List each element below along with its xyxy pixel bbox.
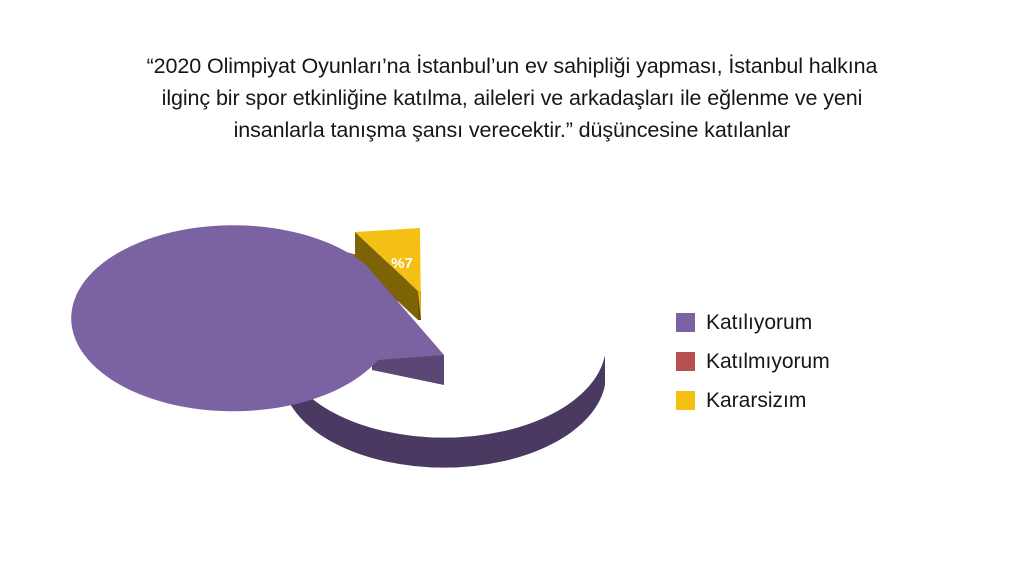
pie-slice-katiliyorum-label: %81 bbox=[508, 385, 538, 402]
pie-chart-plot-area: %12 %7 %81 bbox=[0, 170, 660, 500]
legend-swatch-kararsizim-icon bbox=[676, 391, 695, 410]
legend-item-katiliyorum[interactable]: Katılıyorum bbox=[676, 303, 926, 342]
chart-title-line-1: “2020 Olimpiyat Oyunları’na İstanbul’un … bbox=[96, 50, 928, 82]
legend-item-kararsizim[interactable]: Kararsizım bbox=[676, 381, 926, 420]
legend-swatch-katilmiyorum-icon bbox=[676, 352, 695, 371]
chart-title-line-2: ilginç bir spor etkinliğine katılma, ail… bbox=[96, 82, 928, 114]
chart-title-line-3: insanlarla tanışma şansı verecektir.” dü… bbox=[96, 114, 928, 146]
legend-swatch-katiliyorum-icon bbox=[676, 313, 695, 332]
pie-slice-katiliyorum[interactable]: %81 bbox=[71, 225, 605, 467]
pie-slice-kararsizim-label: %7 bbox=[391, 255, 413, 272]
legend-label-kararsizim: Kararsizım bbox=[706, 389, 806, 413]
chart-title: “2020 Olimpiyat Oyunları’na İstanbul’un … bbox=[96, 50, 928, 146]
legend-item-katilmiyorum[interactable]: Katılmıyorum bbox=[676, 342, 926, 381]
chart-legend: Katılıyorum Katılmıyorum Kararsizım bbox=[676, 303, 926, 420]
chart-figure: “2020 Olimpiyat Oyunları’na İstanbul’un … bbox=[0, 0, 1024, 572]
pie-chart-svg: %12 %7 %81 bbox=[0, 170, 660, 500]
legend-label-katiliyorum: Katılıyorum bbox=[706, 311, 812, 335]
legend-label-katilmiyorum: Katılmıyorum bbox=[706, 350, 830, 374]
